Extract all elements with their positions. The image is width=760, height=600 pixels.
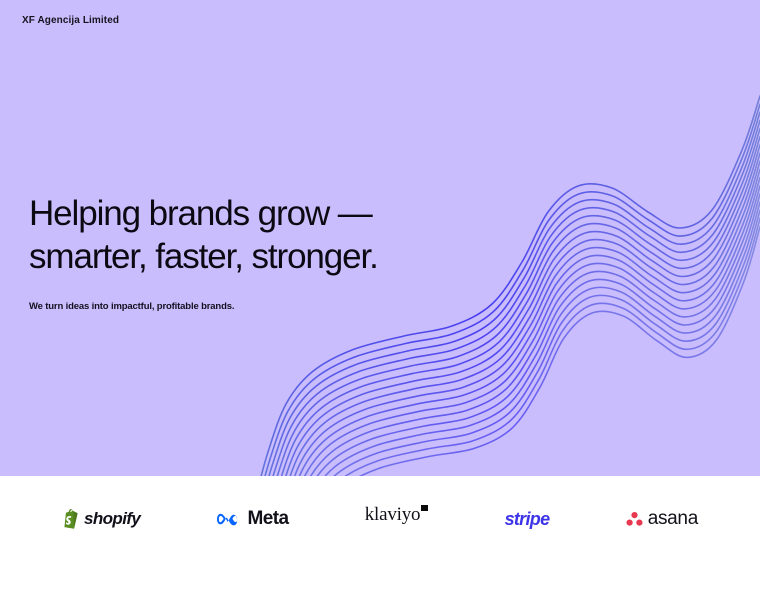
landing-page: XF Agencija Limited Helping brands grow …: [0, 0, 760, 600]
logo-asana-label: asana: [648, 508, 698, 530]
logo-meta-label: Meta: [248, 508, 289, 530]
logo-asana[interactable]: asana: [626, 504, 698, 534]
logo-klaviyo[interactable]: klaviyo: [365, 504, 429, 534]
logo-meta[interactable]: Meta: [217, 504, 289, 534]
klaviyo-square-icon: [421, 505, 428, 512]
hero-copy: Helping brands grow — smarter, faster, s…: [29, 192, 499, 314]
top-brand-bar: XF Agencija Limited: [0, 0, 760, 40]
asana-dots-icon: [626, 511, 643, 527]
logo-shopify[interactable]: shopify: [62, 504, 140, 534]
logo-shopify-label: shopify: [84, 509, 140, 529]
brand-name[interactable]: XF Agencija Limited: [22, 15, 119, 26]
logo-stripe-label: stripe: [505, 509, 550, 530]
meta-infinity-icon: [217, 510, 243, 528]
partner-logo-strip: shopify Meta klaviyo s: [0, 476, 760, 600]
hero-section: XF Agencija Limited Helping brands grow …: [0, 0, 760, 476]
page-title: Helping brands grow — smarter, faster, s…: [29, 192, 499, 278]
shopify-bag-icon: [62, 509, 79, 529]
logo-stripe[interactable]: stripe: [505, 504, 550, 534]
hero-subheadline: We turn ideas into impactful, profitable…: [29, 300, 499, 314]
logo-klaviyo-label: klaviyo: [365, 504, 421, 526]
